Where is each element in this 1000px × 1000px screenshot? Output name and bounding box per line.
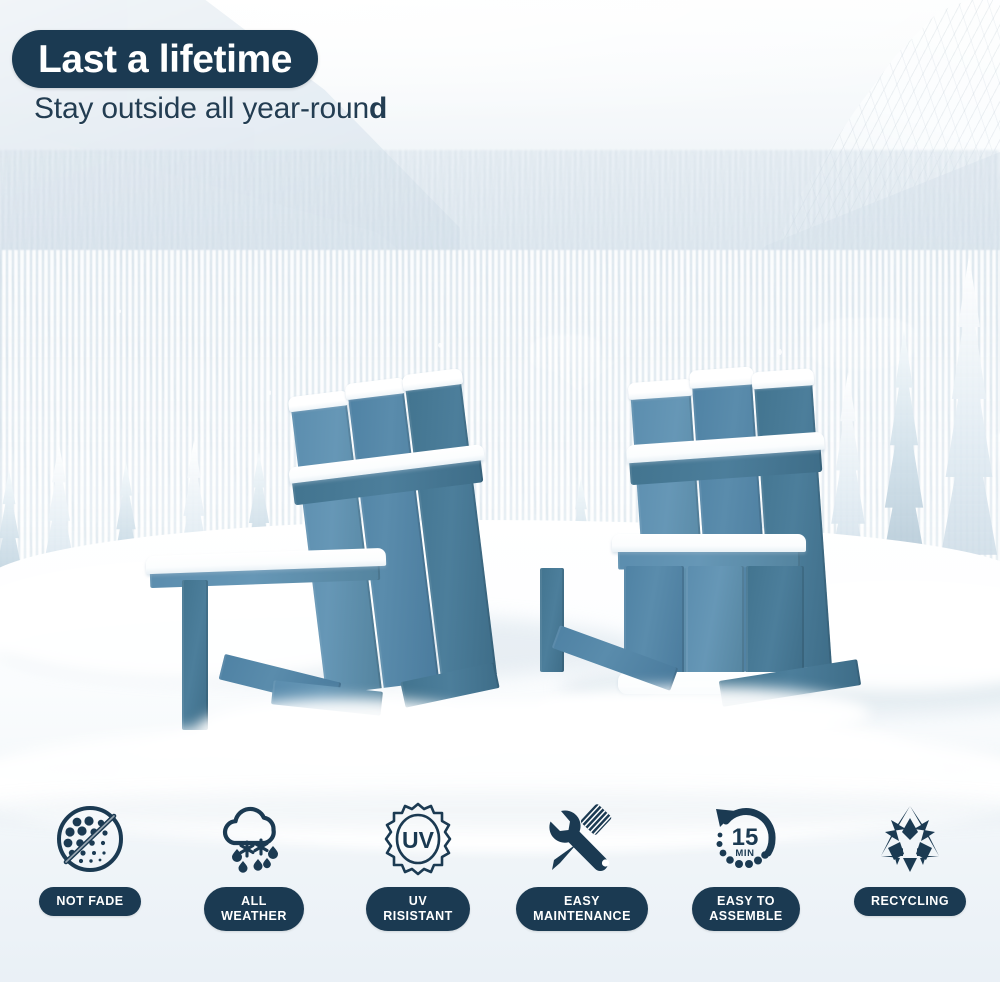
bottom-white-strip bbox=[0, 982, 1000, 1000]
feature-label: NOT FADE bbox=[39, 887, 140, 916]
uv-text: UV bbox=[402, 827, 435, 853]
subtitle-tail: d bbox=[369, 92, 387, 125]
feature-label: EASY MAINTENANCE bbox=[516, 887, 648, 931]
chair-front-leg bbox=[540, 568, 564, 672]
adirondack-chair-left bbox=[140, 380, 520, 740]
subtitle-main: Stay outside all year-roun bbox=[34, 92, 369, 125]
uv-resistant-icon: UV bbox=[379, 800, 457, 878]
feature-easy-to-assemble: 15 MIN EASY TO ASSEMBLE bbox=[670, 800, 822, 931]
assemble-number-text: 15 bbox=[732, 824, 759, 851]
product-feature-image: Last a lifetime Stay outside all year-ro… bbox=[0, 0, 1000, 1000]
easy-to-assemble-icon: 15 MIN bbox=[707, 800, 785, 878]
all-weather-icon bbox=[215, 800, 293, 878]
feature-uv-resistant: UV UV RISISTANT bbox=[342, 800, 494, 931]
subtitle: Stay outside all year-round bbox=[34, 92, 387, 126]
feature-easy-maintenance: EASY MAINTENANCE bbox=[506, 800, 658, 931]
feature-label: ALL WEATHER bbox=[204, 887, 304, 931]
feature-recycling: RECYCLING bbox=[834, 800, 986, 916]
chair-front-leg bbox=[182, 580, 208, 730]
feature-label: UV RISISTANT bbox=[366, 887, 470, 931]
recycling-icon bbox=[871, 800, 949, 878]
snow-on-armrest bbox=[612, 534, 806, 552]
feature-label: EASY TO ASSEMBLE bbox=[692, 887, 799, 931]
easy-maintenance-icon bbox=[543, 800, 621, 878]
feature-all-weather: ALL WEATHER bbox=[178, 800, 330, 931]
not-fade-icon bbox=[51, 800, 129, 878]
headline-pill: Last a lifetime bbox=[12, 30, 318, 88]
chair-seat-slat bbox=[746, 566, 804, 684]
feature-label: RECYCLING bbox=[854, 887, 966, 916]
assemble-unit-text: MIN bbox=[735, 848, 754, 859]
chair-seat-slat bbox=[686, 566, 744, 686]
feature-badge-row: NOT FADE bbox=[0, 800, 1000, 950]
feature-not-fade: NOT FADE bbox=[14, 800, 166, 916]
adirondack-chair-right bbox=[500, 370, 860, 710]
page-title: Last a lifetime bbox=[38, 40, 292, 79]
